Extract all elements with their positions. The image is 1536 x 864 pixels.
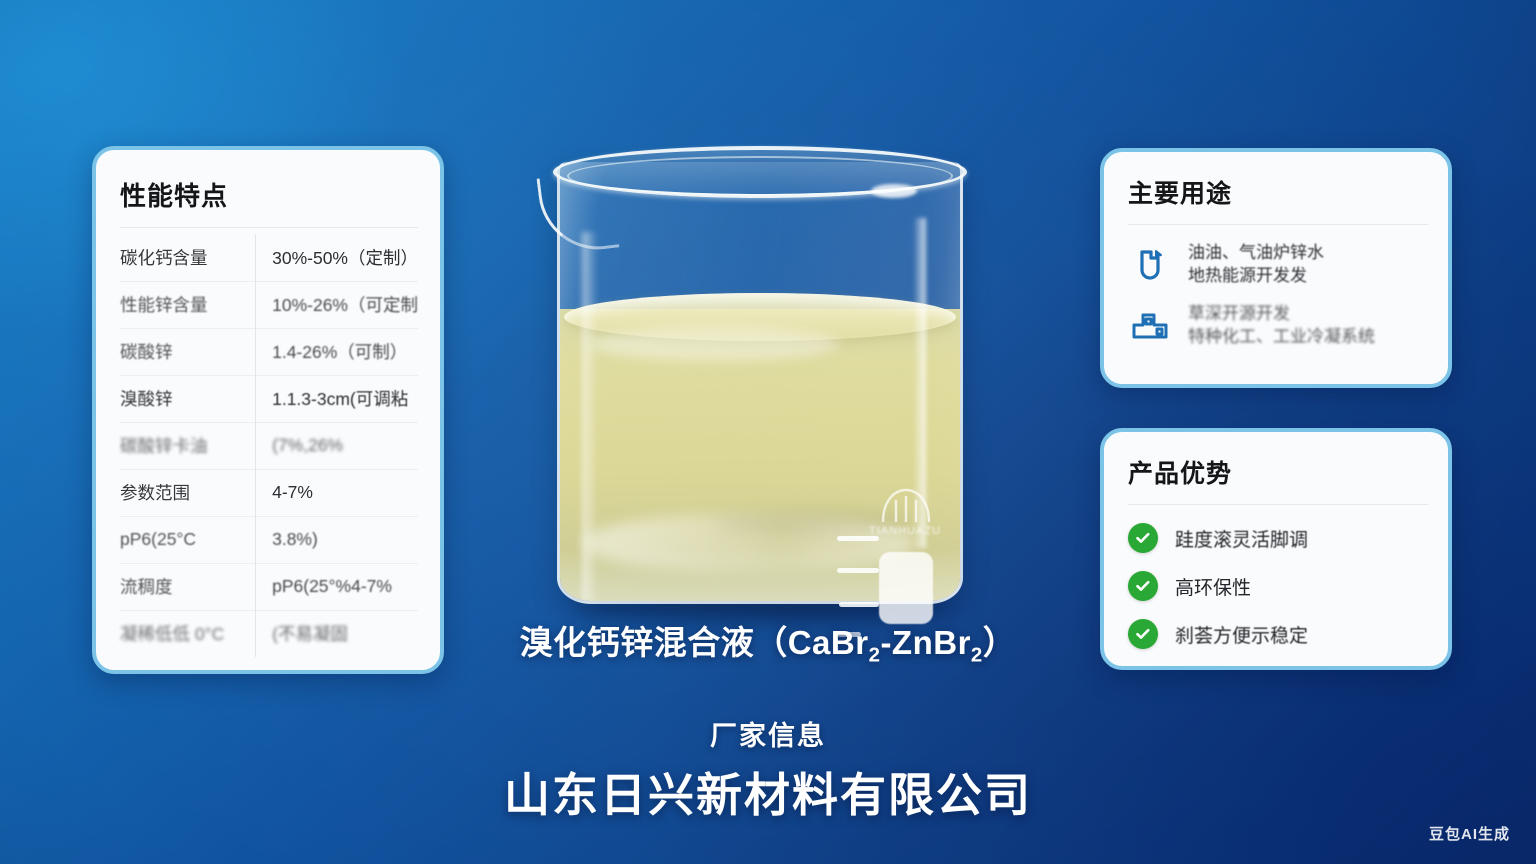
- table-row: 溴酸锌1.1.3-3cm(可调粘: [120, 375, 418, 422]
- graduation-mark: [839, 602, 879, 607]
- usage-line-2: 特种化工、工业冷凝系统: [1188, 325, 1375, 348]
- spec-key: 性能锌含量: [120, 281, 256, 328]
- spec-value: pP6(25°%4-7%: [256, 563, 418, 610]
- spec-value: 10%-26%（可定制: [256, 281, 418, 328]
- spec-value: 3.8%): [256, 516, 418, 563]
- advantage-item: 高环保性: [1128, 571, 1428, 601]
- manufacturer-block: 厂家信息 山东日兴新材料有限公司: [0, 714, 1536, 825]
- usage-item: 油油、气油炉锌水地热能源开发发: [1128, 241, 1428, 288]
- table-row: 碳化钙含量30%-50%（定制）: [120, 234, 418, 281]
- table-row: 碳酸锌1.4-26%（可制）: [120, 328, 418, 375]
- graduation-mark: [837, 568, 879, 573]
- spec-key: 碳酸锌卡油: [120, 422, 256, 469]
- product-caption-sub2: 2: [971, 644, 983, 667]
- beaker-white-label-patch: [879, 552, 933, 624]
- ai-watermark: 豆包AI生成: [1429, 823, 1510, 844]
- advantage-card-title: 产品优势: [1128, 454, 1428, 490]
- spec-value: 30%-50%（定制）: [256, 234, 418, 281]
- spec-table: 碳化钙含量30%-50%（定制）性能锌含量10%-26%（可定制碳酸锌1.4-2…: [120, 234, 418, 657]
- beaker-glass-body: [557, 162, 963, 604]
- advantage-item: 跬度滚灵活脚调: [1128, 523, 1428, 553]
- product-caption-main: 溴化钙锌混合液（CaBr: [520, 624, 869, 661]
- spec-value: 1.4-26%（可制）: [256, 328, 418, 375]
- graduation-mark: [837, 536, 879, 541]
- spec-card-title: 性能特点: [120, 176, 418, 213]
- product-name-caption: 溴化钙锌混合液（CaBr2-ZnBr2）: [0, 616, 1536, 668]
- usage-card-divider: [1128, 224, 1428, 225]
- usage-card-title: 主要用途: [1128, 174, 1428, 210]
- advantage-label: 高环保性: [1175, 573, 1251, 600]
- table-row: pP6(25°C3.8%): [120, 516, 418, 563]
- beaker-spout: [537, 170, 620, 256]
- advantage-card-divider: [1128, 504, 1428, 505]
- rim-highlight-dot: [871, 184, 917, 198]
- table-row: 碳酸锌卡油(7%,26%: [120, 422, 418, 469]
- spec-value: 4-7%: [256, 469, 418, 516]
- spec-key: 溴酸锌: [120, 375, 256, 422]
- liquid-highlight-top: [590, 327, 840, 361]
- usage-text: 草深开源开发特种化工、工业冷凝系统: [1188, 302, 1375, 349]
- spec-key: 流稠度: [120, 563, 256, 610]
- oil-drop-icon: [1128, 242, 1172, 286]
- manufacturer-label: 厂家信息: [0, 714, 1536, 753]
- usage-text: 油油、气油炉锌水地热能源开发发: [1188, 241, 1324, 288]
- spec-value: (7%,26%: [256, 422, 418, 469]
- usage-line-2: 地热能源开发发: [1188, 264, 1324, 287]
- performance-spec-card: 性能特点 碳化钙含量30%-50%（定制）性能锌含量10%-26%（可定制碳酸锌…: [92, 146, 444, 674]
- check-circle-icon: [1128, 571, 1158, 601]
- spec-key: 碳酸锌: [120, 328, 256, 375]
- table-row: 性能锌含量10%-26%（可定制: [120, 281, 418, 328]
- spec-value: 1.1.3-3cm(可调粘: [256, 375, 418, 422]
- table-row: 流稠度pP6(25°%4-7%: [120, 563, 418, 610]
- beaker-brand-logo-icon: [875, 484, 937, 524]
- glass-glare-left: [582, 232, 598, 602]
- usage-line-1: 草深开源开发: [1188, 302, 1375, 325]
- usage-list: 油油、气油炉锌水地热能源开发发草深开源开发特种化工、工业冷凝系统: [1128, 241, 1428, 349]
- beaker-label-text: TIANHUAZU: [869, 525, 941, 537]
- usage-line-1: 油油、气油炉锌水: [1188, 241, 1324, 264]
- beaker-illustration: TIANHUAZU: [545, 132, 975, 614]
- factory-icon: [1128, 303, 1172, 347]
- product-caption-end: ）: [983, 624, 1017, 661]
- product-caption-sub1: 2: [869, 644, 881, 667]
- product-caption-mid: -ZnBr: [880, 624, 970, 661]
- advantage-label: 跬度滚灵活脚调: [1175, 525, 1308, 552]
- spec-card-divider: [120, 227, 418, 228]
- table-row: 参数范围4-7%: [120, 469, 418, 516]
- spec-key: 碳化钙含量: [120, 234, 256, 281]
- usage-item: 草深开源开发特种化工、工业冷凝系统: [1128, 302, 1428, 349]
- manufacturer-name: 山东日兴新材料有限公司: [0, 759, 1536, 825]
- check-circle-icon: [1128, 523, 1158, 553]
- spec-key: 参数范围: [120, 469, 256, 516]
- liquid-highlight-bottom: [584, 513, 914, 571]
- spec-key: pP6(25°C: [120, 516, 256, 563]
- main-usage-card: 主要用途 油油、气油炉锌水地热能源开发发草深开源开发特种化工、工业冷凝系统: [1100, 148, 1452, 388]
